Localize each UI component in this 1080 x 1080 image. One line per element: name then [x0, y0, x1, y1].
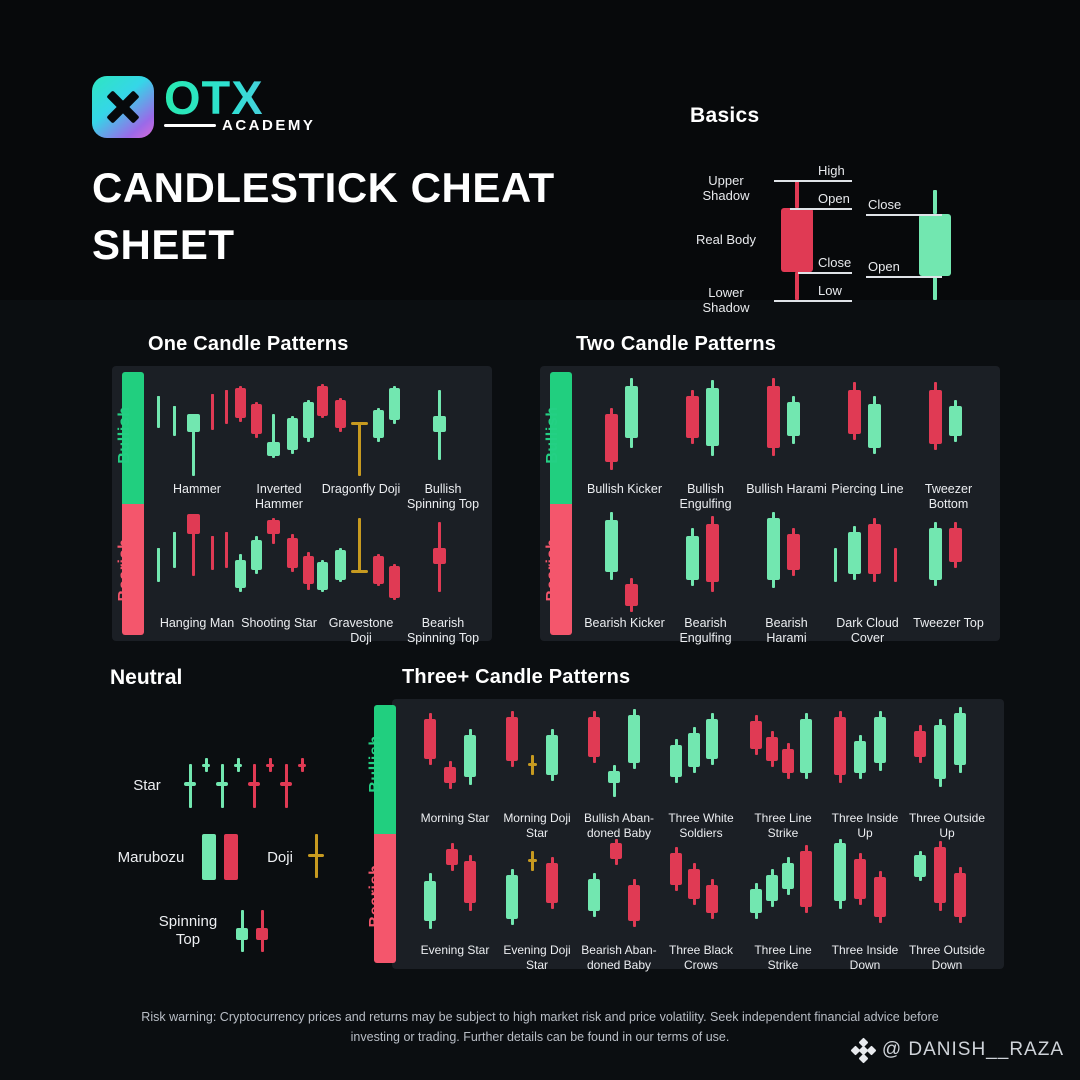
pattern-art	[751, 374, 823, 478]
pattern-label: Three Outside Up	[906, 811, 988, 840]
pattern-cell: Morning Doji Star	[496, 705, 578, 840]
candle-body	[914, 855, 926, 877]
rail-label-bullish-three: Bullish	[367, 724, 385, 804]
candle-body	[187, 414, 200, 432]
candle-body	[800, 851, 812, 907]
candle-body	[433, 548, 446, 564]
candle-body	[706, 885, 718, 913]
open-leader-line	[790, 208, 852, 210]
candle-body	[251, 404, 262, 434]
candle-body	[706, 388, 719, 446]
pattern-art	[830, 837, 900, 939]
candle-wick	[211, 394, 214, 430]
pattern-cell: Bullish Harami	[746, 374, 827, 513]
candle-body	[605, 520, 618, 572]
pattern-cell: Bullish Kicker	[584, 374, 665, 513]
candle-body	[308, 854, 324, 857]
candle-wick	[225, 390, 228, 424]
pattern-art	[751, 508, 823, 612]
candle-body	[686, 536, 699, 580]
candle-wick	[253, 764, 256, 808]
pattern-cell: Bearish Kicker	[584, 508, 665, 647]
candle-body	[335, 550, 346, 580]
candle-body	[546, 863, 558, 903]
candle-body	[625, 386, 638, 438]
candle-body	[628, 715, 640, 763]
candle-body	[670, 745, 682, 777]
bearish-upper-shadow	[795, 180, 799, 208]
pattern-cell: Shooting Star	[238, 508, 320, 647]
basics-diagram: Basics Upper Shadow	[690, 104, 1020, 284]
pattern-cell: Hanging Man	[156, 508, 238, 647]
candle-body	[874, 877, 886, 917]
pattern-label: Morning Doji Star	[496, 811, 578, 840]
pattern-label: Dark Cloud Cover	[827, 616, 908, 647]
section-title-two-candle: Two Candle Patterns	[576, 333, 1000, 356]
candle-body	[267, 442, 280, 456]
candle-body	[914, 731, 926, 757]
candle-wick	[173, 532, 176, 568]
rail-label-bearish-one: Bearish	[116, 530, 134, 610]
binance-diamond-icon	[852, 1039, 874, 1061]
pattern-art	[913, 508, 985, 612]
pattern-label: Gravestone Doji	[320, 616, 402, 647]
pattern-label: Dragonfly Doji	[320, 482, 402, 497]
brand-wordmark: OTX ACADEMY	[164, 76, 315, 138]
watermark-handle: @ DANISH__RAZA	[882, 1039, 1064, 1061]
candle-wick	[157, 396, 160, 428]
candle-body	[766, 737, 778, 761]
pattern-art	[397, 508, 489, 612]
bullish-open-leader-line	[866, 276, 942, 278]
candle-body	[464, 861, 476, 903]
pattern-cell: Three White Soldiers	[660, 705, 742, 840]
candle-body	[787, 534, 800, 570]
neutral-canvas: Star Marubozu Doji Spinning Top	[110, 708, 410, 948]
risk-warning-text: Risk warning: Cryptocurrency prices and …	[140, 1007, 940, 1047]
rail-label-bullish-one: Bullish	[116, 395, 134, 475]
bearish-lower-shadow	[795, 272, 799, 300]
pattern-cell: Dragonfly Doji	[320, 374, 402, 513]
candle-body	[787, 402, 800, 436]
brand-rule	[164, 124, 216, 127]
candle-body	[335, 400, 346, 428]
candle-body	[464, 735, 476, 777]
candle-body	[173, 532, 176, 534]
section-title-neutral: Neutral	[110, 666, 410, 690]
row-two-candle-bearish: Bearish KickerBearish EngulfingBearish H…	[584, 508, 992, 647]
pattern-label: Three Line Strike	[742, 811, 824, 840]
candle-body	[588, 717, 600, 757]
pattern-art	[832, 508, 904, 612]
section-two-candle-patterns: Two Candle Patterns Bullish Bearish Bull…	[540, 333, 1000, 641]
pattern-cell: Bearish Engulfing	[665, 508, 746, 647]
candle-body	[800, 719, 812, 773]
candle-body	[224, 834, 238, 880]
neutral-item-spinning-top: Spinning Top	[152, 906, 274, 956]
pattern-cell: Three Outside Up	[906, 705, 988, 840]
candle-wick	[358, 422, 361, 476]
row-three-candle-bullish: Morning StarMorning Doji StarBullish Aba…	[414, 705, 994, 840]
pattern-art	[670, 374, 742, 478]
bullish-upper-shadow	[933, 190, 937, 214]
pattern-art	[420, 837, 490, 939]
pattern-art	[912, 837, 982, 939]
candle-body	[506, 875, 518, 919]
row-three-candle-bearish: Evening StarEvening Doji StarBearish Aba…	[414, 837, 994, 972]
neutral-label-star: Star	[120, 777, 174, 795]
pattern-art	[584, 705, 654, 807]
footer: Risk warning: Cryptocurrency prices and …	[0, 995, 1080, 1080]
label-real-body: Real Body	[688, 233, 764, 248]
pattern-art	[502, 705, 572, 807]
candle-wick	[834, 548, 837, 582]
pattern-cell: Evening Doji Star	[496, 837, 578, 972]
pattern-cell: Bullish Spinning Top	[402, 374, 484, 513]
rail-label-bearish-two: Bearish	[544, 530, 562, 610]
pattern-cell: Three Line Strike	[742, 837, 824, 972]
candle-body	[234, 764, 242, 767]
candle-body	[373, 410, 384, 438]
pattern-art	[233, 374, 325, 478]
candle-body	[782, 863, 794, 889]
candle-body	[184, 782, 196, 786]
label-bullish-open: Open	[868, 260, 928, 275]
candle-wick	[157, 548, 160, 582]
candle-body	[528, 763, 537, 766]
candle-body	[782, 749, 794, 773]
watermark: @ DANISH__RAZA	[852, 1039, 1064, 1061]
basics-canvas: Upper Shadow Real Body Lower Shadow High…	[690, 138, 1020, 288]
pattern-label: Bearish Harami	[746, 616, 827, 647]
high-leader-line	[774, 180, 852, 182]
candle-body	[750, 721, 762, 749]
label-low: Low	[818, 284, 878, 299]
candle-body	[373, 556, 384, 584]
candle-body	[868, 404, 881, 448]
row-one-candle-bullish: HammerInverted HammerDragonfly DojiBulli…	[156, 374, 486, 513]
pattern-cell: Piercing Line	[827, 374, 908, 513]
neutral-label-spinning-top: Spinning Top	[152, 913, 224, 949]
candle-body	[874, 717, 886, 763]
candle-body	[546, 735, 558, 775]
pattern-label: Three Black Crows	[660, 943, 742, 972]
pattern-art	[670, 508, 742, 612]
candle-body	[211, 536, 214, 538]
candle-body	[934, 725, 946, 779]
pattern-art	[830, 705, 900, 807]
brand-academy-label: ACADEMY	[222, 117, 315, 134]
row-one-candle-bearish: Hanging ManShooting StarGravestone DojiB…	[156, 508, 486, 647]
candle-body	[605, 414, 618, 462]
rail-label-bullish-two: Bullish	[544, 395, 562, 475]
neutral-label-doji: Doji	[258, 849, 302, 867]
pattern-label: Bullish Harami	[746, 482, 827, 497]
pattern-label: Three Outside Down	[906, 943, 988, 972]
pattern-label: Bearish Spinning Top	[402, 616, 484, 647]
candle-body	[225, 532, 228, 534]
candle-body	[317, 386, 328, 416]
candle-body	[670, 853, 682, 885]
candle-body	[688, 869, 700, 899]
pattern-cell: Morning Star	[414, 705, 496, 840]
pattern-cell: Gravestone Doji	[320, 508, 402, 647]
pattern-cell: Hammer	[156, 374, 238, 513]
candle-body	[303, 402, 314, 438]
pattern-cell: Tweezer Bottom	[908, 374, 989, 513]
neutral-art-marubozu	[200, 830, 244, 886]
label-high: High	[818, 164, 878, 179]
candle-body	[929, 528, 942, 580]
candle-body	[287, 538, 298, 568]
candle-body	[202, 764, 210, 767]
pattern-art	[589, 374, 661, 478]
candle-body	[528, 859, 537, 862]
pattern-label: Evening Doji Star	[496, 943, 578, 972]
pattern-art	[397, 374, 489, 478]
gradient-x-mark-icon	[92, 76, 154, 138]
pattern-art	[666, 837, 736, 939]
pattern-art	[589, 508, 661, 612]
candle-body	[235, 388, 246, 418]
candle-body	[706, 524, 719, 582]
candle-body	[767, 518, 780, 580]
candle-body	[868, 524, 881, 574]
candle-body	[750, 889, 762, 913]
candle-body	[706, 719, 718, 759]
row-two-candle-bullish: Bullish KickerBullish EngulfingBullish H…	[584, 374, 992, 513]
candle-body	[949, 528, 962, 562]
candle-body	[610, 843, 622, 859]
candle-body	[894, 560, 897, 562]
candle-body	[202, 834, 216, 880]
candle-body	[834, 560, 837, 562]
close-leader-line	[798, 272, 852, 274]
pattern-label: Morning Star	[414, 811, 496, 826]
pattern-cell: Bearish Harami	[746, 508, 827, 647]
candle-body	[848, 390, 861, 434]
candle-body	[236, 928, 248, 940]
candle-wick	[173, 406, 176, 436]
pattern-cell: Bearish Spinning Top	[402, 508, 484, 647]
candle-body	[157, 548, 160, 550]
candle-body	[424, 719, 436, 759]
pattern-label: Three Inside Down	[824, 943, 906, 972]
label-lower-shadow: Lower Shadow	[688, 286, 764, 316]
candle-body	[766, 875, 778, 901]
section-neutral: Neutral Star Marubozu Doji Spinning Top	[110, 666, 410, 946]
pattern-art	[584, 837, 654, 939]
candle-body	[588, 879, 600, 911]
pattern-label: Bearish Aban-doned Baby	[578, 943, 660, 972]
candle-body	[625, 584, 638, 606]
candle-body	[934, 847, 946, 903]
candle-body	[834, 717, 846, 775]
pattern-cell: Bearish Aban-doned Baby	[578, 837, 660, 972]
candle-body	[266, 764, 274, 767]
neutral-art-spinning-top	[234, 906, 274, 956]
pattern-cell: Inverted Hammer	[238, 374, 320, 513]
candle-body	[317, 562, 328, 590]
pattern-label: Hanging Man	[156, 616, 238, 631]
pattern-cell: Three Line Strike	[742, 705, 824, 840]
candle-wick	[211, 536, 214, 570]
candle-body	[929, 390, 942, 444]
neutral-item-star: Star	[120, 756, 320, 816]
pattern-label: Tweezer Top	[908, 616, 989, 631]
candle-body	[235, 560, 246, 588]
candle-body	[686, 396, 699, 438]
pattern-art	[502, 837, 572, 939]
pattern-label: Evening Star	[414, 943, 496, 958]
bearish-real-body	[781, 208, 813, 272]
candle-wick	[285, 764, 288, 808]
pattern-art	[151, 374, 243, 478]
neutral-label-marubozu: Marubozu	[110, 849, 192, 867]
pattern-label: Bullish Aban-doned Baby	[578, 811, 660, 840]
candle-body	[225, 390, 228, 392]
pattern-cell: Bullish Aban-doned Baby	[578, 705, 660, 840]
candle-body	[187, 514, 200, 534]
brand-logo: OTX ACADEMY	[92, 76, 315, 138]
bullish-lower-shadow	[933, 276, 937, 300]
pattern-cell: Dark Cloud Cover	[827, 508, 908, 647]
candle-body	[433, 416, 446, 432]
header-band: OTX ACADEMY CANDLESTICK CHEAT SHEET Basi…	[0, 0, 1080, 300]
candle-wick	[358, 518, 361, 573]
candle-body	[351, 422, 368, 425]
pattern-art	[315, 374, 407, 478]
label-bullish-close: Close	[868, 198, 928, 213]
pattern-cell: Evening Star	[414, 837, 496, 972]
candle-body	[444, 767, 456, 783]
basics-title: Basics	[690, 104, 1020, 128]
candle-body	[688, 733, 700, 767]
pattern-art	[748, 705, 818, 807]
pattern-label: Three Line Strike	[742, 943, 824, 972]
panel-one-candle: Bullish Bearish HammerInverted HammerDra…	[112, 366, 492, 641]
pattern-art	[748, 837, 818, 939]
pattern-art	[233, 508, 325, 612]
candle-body	[834, 843, 846, 901]
candle-body	[157, 396, 160, 398]
candle-wick	[189, 764, 192, 808]
candle-body	[848, 532, 861, 574]
pattern-label: Hammer	[156, 482, 238, 497]
candle-body	[256, 928, 268, 940]
panel-three-candle: Bullish Bearish Morning StarMorning Doji…	[392, 699, 1004, 969]
section-three-candle-patterns: Three+ Candle Patterns Bullish Bearish M…	[392, 666, 1004, 969]
low-leader-line	[774, 300, 852, 302]
candle-body	[251, 540, 262, 570]
candle-body	[954, 713, 966, 765]
pattern-cell: Tweezer Top	[908, 508, 989, 647]
pattern-art	[832, 374, 904, 478]
page-title: CANDLESTICK CHEAT SHEET	[92, 160, 612, 273]
candle-body	[628, 885, 640, 921]
pattern-art	[913, 374, 985, 478]
pattern-art	[912, 705, 982, 807]
candle-wick	[225, 532, 228, 568]
pattern-cell: Three Inside Up	[824, 705, 906, 840]
pattern-art	[666, 705, 736, 807]
bullish-close-leader-line	[866, 214, 942, 216]
section-one-candle-patterns: One Candle Patterns Bullish Bearish Hamm…	[112, 333, 492, 641]
neutral-art-doji	[302, 830, 330, 886]
pattern-cell: Three Black Crows	[660, 837, 742, 972]
candle-body	[267, 520, 280, 534]
candle-body	[424, 881, 436, 921]
pattern-label: Three Inside Up	[824, 811, 906, 840]
candle-wick	[894, 548, 897, 582]
pattern-cell: Bullish Engulfing	[665, 374, 746, 513]
candle-body	[767, 386, 780, 448]
pattern-label: Bullish Kicker	[584, 482, 665, 497]
neutral-art-star	[180, 756, 320, 816]
candle-body	[173, 406, 176, 408]
candle-body	[608, 771, 620, 783]
candle-body	[954, 873, 966, 917]
brand-name: OTX	[164, 76, 315, 121]
section-title-one-candle: One Candle Patterns	[148, 333, 492, 356]
pattern-art	[315, 508, 407, 612]
pattern-art	[420, 705, 490, 807]
candle-body	[280, 782, 292, 786]
section-title-three-candle: Three+ Candle Patterns	[402, 666, 1004, 689]
candle-wick	[221, 764, 224, 808]
neutral-item-marubozu: Marubozu Doji	[110, 830, 330, 886]
panel-two-candle: Bullish Bearish Bullish KickerBullish En…	[540, 366, 1000, 641]
candle-body	[216, 782, 228, 786]
candle-body	[949, 406, 962, 436]
candle-body	[211, 394, 214, 396]
pattern-cell: Three Outside Down	[906, 837, 988, 972]
candle-body	[248, 782, 260, 786]
pattern-label: Shooting Star	[238, 616, 320, 631]
candle-body	[506, 717, 518, 761]
candle-body	[351, 570, 368, 573]
infographic-page: OTX ACADEMY CANDLESTICK CHEAT SHEET Basi…	[0, 0, 1080, 1080]
pattern-label: Three White Soldiers	[660, 811, 742, 840]
candle-body	[298, 764, 306, 767]
candle-body	[287, 418, 298, 450]
candle-body	[446, 849, 458, 865]
candle-body	[303, 556, 314, 584]
pattern-label: Piercing Line	[827, 482, 908, 497]
pattern-label: Bearish Engulfing	[665, 616, 746, 647]
pattern-label: Bearish Kicker	[584, 616, 665, 631]
label-upper-shadow: Upper Shadow	[688, 174, 764, 204]
pattern-cell: Three Inside Down	[824, 837, 906, 972]
candle-body	[854, 741, 866, 773]
pattern-art	[151, 508, 243, 612]
rail-label-bearish-three: Bearish	[367, 856, 385, 936]
candle-body	[854, 859, 866, 899]
